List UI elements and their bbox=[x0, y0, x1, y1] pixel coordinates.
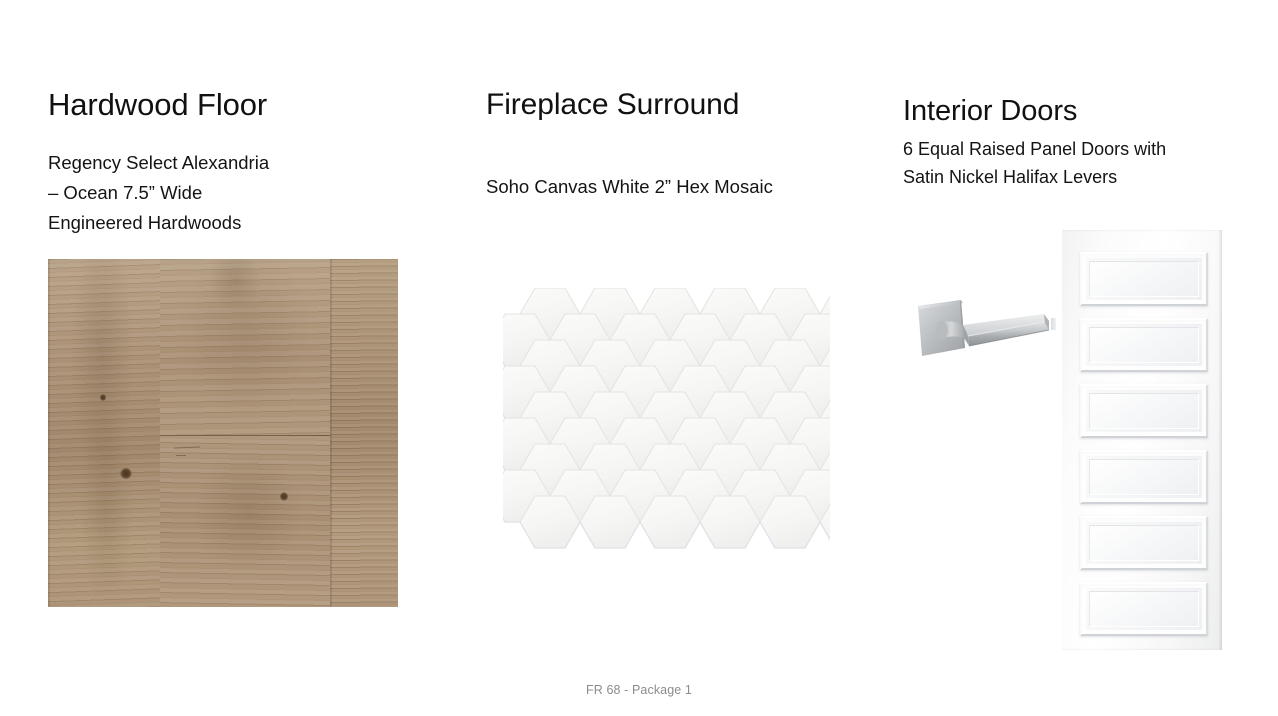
door-panel bbox=[1080, 450, 1208, 504]
door-panel bbox=[1080, 384, 1208, 438]
hardwood-floor-swatch bbox=[48, 259, 398, 607]
description-interior-doors: 6 Equal Raised Panel Doors with Satin Ni… bbox=[903, 136, 1233, 192]
description-line: – Ocean 7.5” Wide bbox=[48, 178, 408, 208]
wood-knot bbox=[120, 468, 132, 479]
hex-mosaic-tile-swatch bbox=[494, 282, 838, 566]
wood-plank-segment bbox=[160, 435, 330, 607]
slide-footer: FR 68 - Package 1 bbox=[0, 683, 1278, 697]
wood-knot bbox=[280, 492, 288, 501]
description-line: Engineered Hardwoods bbox=[48, 208, 408, 238]
description-line: Soho Canvas White 2” Hex Mosaic bbox=[486, 172, 886, 202]
heading-fireplace-surround: Fireplace Surround bbox=[486, 88, 886, 122]
column-fireplace-surround: Fireplace Surround Soho Canvas White 2” … bbox=[486, 88, 886, 202]
description-line: Satin Nickel Halifax Levers bbox=[903, 164, 1233, 192]
six-panel-interior-door bbox=[1062, 230, 1222, 650]
wood-grain-mark bbox=[176, 455, 186, 456]
description-fireplace-surround: Soho Canvas White 2” Hex Mosaic bbox=[486, 172, 886, 202]
heading-interior-doors: Interior Doors bbox=[903, 95, 1233, 127]
description-hardwood-floor: Regency Select Alexandria – Ocean 7.5” W… bbox=[48, 148, 408, 238]
description-line: 6 Equal Raised Panel Doors with bbox=[903, 136, 1233, 164]
door-panel bbox=[1080, 318, 1208, 372]
column-interior-doors: Interior Doors 6 Equal Raised Panel Door… bbox=[903, 95, 1233, 192]
wood-plank-segment bbox=[160, 259, 330, 435]
description-line: Regency Select Alexandria bbox=[48, 148, 408, 178]
wood-plank bbox=[48, 259, 160, 607]
slide-canvas: Hardwood Floor Regency Select Alexandria… bbox=[0, 0, 1278, 716]
door-panel bbox=[1080, 516, 1208, 570]
satin-nickel-halifax-lever bbox=[908, 288, 1058, 368]
column-hardwood-floor: Hardwood Floor Regency Select Alexandria… bbox=[48, 88, 408, 238]
plank-seam bbox=[160, 435, 330, 436]
door-hinge bbox=[1051, 318, 1056, 330]
wood-plank bbox=[330, 259, 398, 607]
wood-knot bbox=[100, 394, 106, 401]
heading-hardwood-floor: Hardwood Floor bbox=[48, 88, 408, 123]
door-panel bbox=[1080, 252, 1208, 306]
door-panel bbox=[1080, 582, 1208, 636]
wood-plank bbox=[160, 259, 330, 607]
